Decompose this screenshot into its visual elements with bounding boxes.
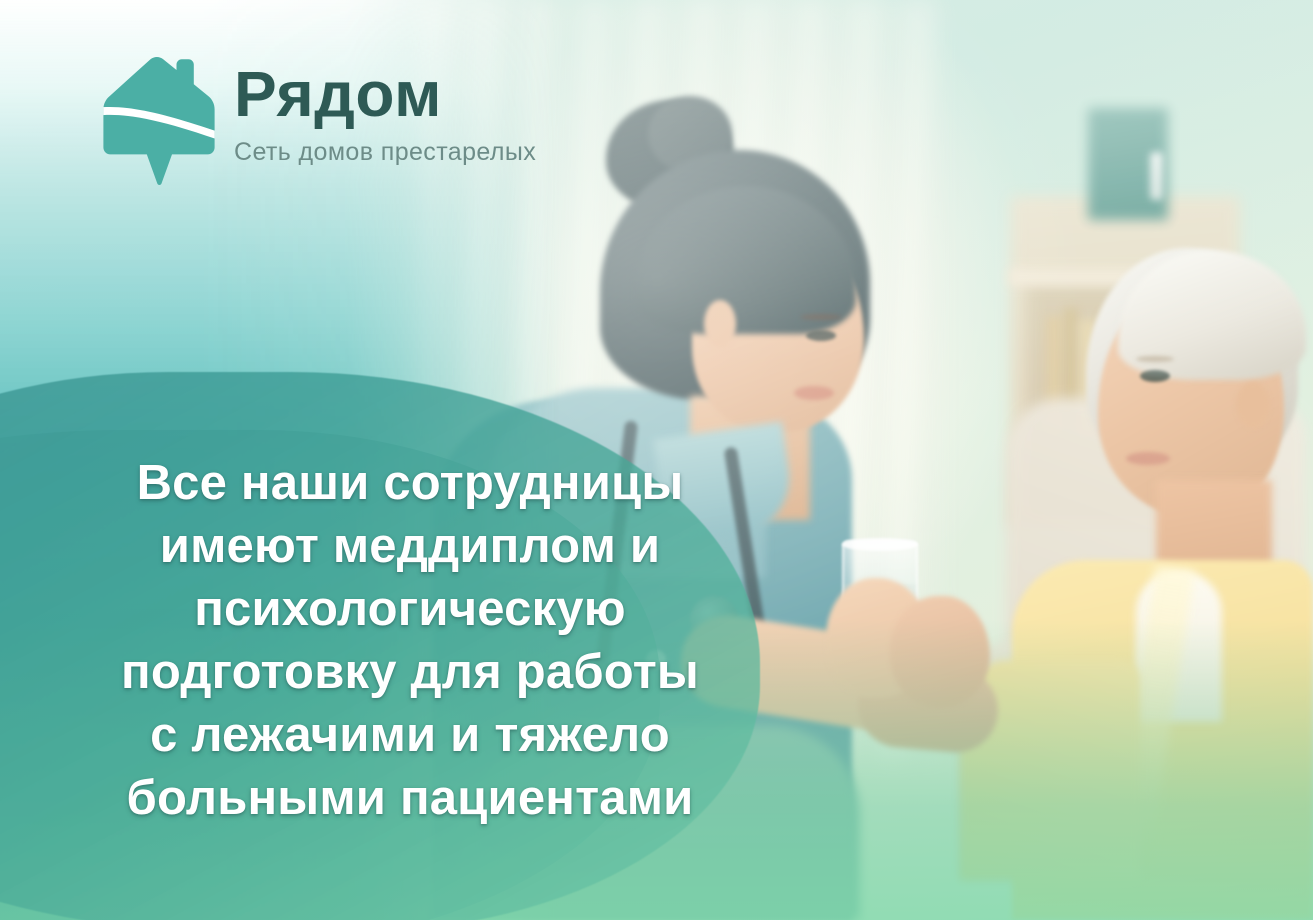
elderly-woman-ear (1236, 382, 1270, 428)
elderly-woman-eye (1140, 370, 1170, 382)
water-glass-rim (842, 538, 918, 551)
nurse-eyebrow (800, 314, 842, 320)
headline-text: Все наши сотрудницы имеют меддиплом и пс… (60, 452, 760, 830)
nurse-eye (806, 330, 836, 341)
bottle (1150, 152, 1163, 200)
nurse-ear (704, 300, 736, 348)
headline-line-6: больными пациентами (60, 767, 760, 830)
nurse-lips (794, 386, 834, 400)
headline-line-4: подготовку для работы (60, 641, 760, 704)
headline-line-1: Все наши сотрудницы (60, 452, 760, 515)
house-pin-icon (98, 56, 220, 188)
headline-line-5: с лежачими и тяжело (60, 704, 760, 767)
brand-name: Рядом (234, 62, 536, 126)
elderly-woman-hand-upper (890, 596, 990, 708)
logo-text-block: Рядом Сеть домов престарелых (234, 56, 536, 167)
brand-logo[interactable]: Рядом Сеть домов престарелых (98, 56, 536, 188)
promo-banner: Рядом Сеть домов престарелых Все наши со… (0, 0, 1313, 920)
brand-tagline: Сеть домов престарелых (234, 138, 536, 167)
headline-line-3: психологическую (60, 578, 760, 641)
elderly-woman-eyebrow (1136, 356, 1174, 362)
headline-line-2: имеют меддиплом и (60, 515, 760, 578)
elderly-woman-lips (1126, 452, 1170, 465)
